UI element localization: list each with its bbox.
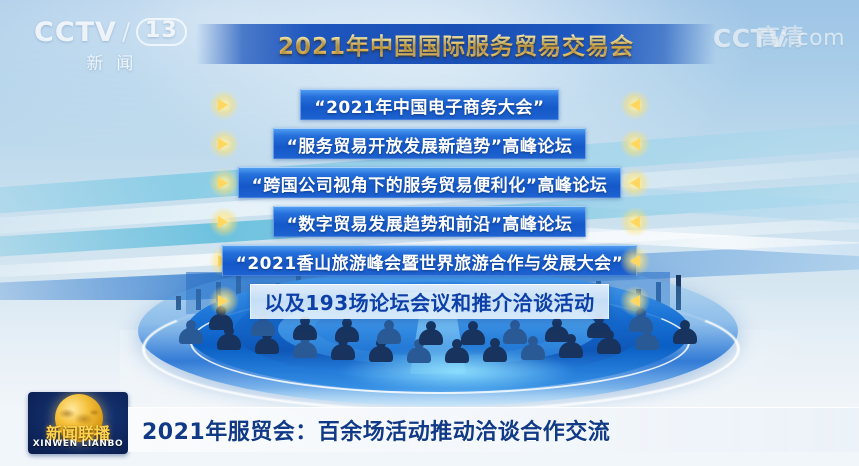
bullet-arrow-right-icon <box>627 136 643 152</box>
event-list-item-bar[interactable]: 以及193场论坛会议和推介洽谈活动 <box>250 284 608 319</box>
broadcast-screen: CCTV / 13 新闻 高清 CCTV .com 2021年中国国际服务贸易交… <box>0 0 859 466</box>
bullet-arrow-left-icon <box>216 293 232 309</box>
cctv-com-watermark: 高清 CCTV .com <box>713 24 845 53</box>
cctv13-channel-logo: CCTV / 13 新闻 <box>34 18 187 74</box>
bullet-arrow-right-icon <box>627 175 643 191</box>
audience-person-silhouette <box>502 320 528 344</box>
title-banner-text: 2021年中国国际服务贸易交易会 <box>278 27 634 61</box>
event-list-item[interactable]: “数字贸易发展趋势和前沿”高峰论坛 <box>0 203 859 240</box>
event-list-item-label: “数字贸易发展趋势和前沿”高峰论坛 <box>287 210 573 235</box>
headline-text: 2021年服贸会：百余场活动推动洽谈合作交流 <box>142 414 610 446</box>
event-list-item[interactable]: “跨国公司视角下的服务贸易便利化”高峰论坛 <box>0 164 859 201</box>
xinwen-lianbo-logo: 新闻联播 XINWEN LIANBO <box>28 392 128 454</box>
title-banner: 2021年中国国际服务贸易交易会 <box>196 24 716 64</box>
channel-sub-label: 新闻 <box>34 49 187 74</box>
headline-band: 2021年服贸会：百余场活动推动洽谈合作交流 <box>128 407 859 452</box>
event-list-item-label: 以及193场论坛会议和推介洽谈活动 <box>264 287 594 316</box>
event-list-item-bar[interactable]: “2021香山旅游峰会暨世界旅游合作与发展大会” <box>222 245 638 276</box>
bullet-arrow-left-icon <box>216 97 232 113</box>
bullet-arrow-left-icon <box>216 214 232 230</box>
bullet-arrow-right-icon <box>627 214 643 230</box>
event-list-item[interactable]: “2021香山旅游峰会暨世界旅游合作与发展大会” <box>0 242 859 279</box>
audience-person-silhouette <box>178 320 204 344</box>
audience-person-silhouette <box>460 321 486 345</box>
event-list-item-bar[interactable]: “2021年中国电子商务大会” <box>300 89 558 120</box>
event-list-item-label: “2021年中国电子商务大会” <box>314 93 544 118</box>
event-list-item[interactable]: “2021年中国电子商务大会” <box>0 86 859 123</box>
bullet-arrow-left-icon <box>216 175 232 191</box>
event-list-item-label: “服务贸易开放发展新趋势”高峰论坛 <box>287 132 573 157</box>
bullet-arrow-right-icon <box>627 97 643 113</box>
audience-person-silhouette <box>376 320 402 344</box>
channel-number: 13 <box>136 18 187 46</box>
event-list-item-label: “跨国公司视角下的服务贸易便利化”高峰论坛 <box>252 171 608 196</box>
event-list-item-bar[interactable]: “服务贸易开放发展新趋势”高峰论坛 <box>273 128 587 159</box>
event-list-item-label: “2021香山旅游峰会暨世界旅游合作与发展大会” <box>236 249 624 274</box>
event-list-item-bar[interactable]: “数字贸易发展趋势和前沿”高峰论坛 <box>273 206 587 237</box>
audience-person-silhouette <box>418 321 444 345</box>
bullet-arrow-left-icon <box>216 136 232 152</box>
hd-badge: 高清 <box>757 18 805 52</box>
event-list-item-bar[interactable]: “跨国公司视角下的服务贸易便利化”高峰论坛 <box>238 167 622 198</box>
bullet-arrow-right-icon <box>627 253 643 269</box>
cctv-wordmark: CCTV <box>34 19 117 46</box>
logo-slash: / <box>122 20 131 44</box>
event-list: “2021年中国电子商务大会”“服务贸易开放发展新趋势”高峰论坛“跨国公司视角下… <box>0 86 859 323</box>
audience-person-silhouette <box>672 320 698 344</box>
bullet-arrow-right-icon <box>627 293 643 309</box>
event-list-item[interactable]: 以及193场论坛会议和推介洽谈活动 <box>0 281 859 321</box>
program-name-en: XINWEN LIANBO <box>28 439 128 449</box>
event-list-item[interactable]: “服务贸易开放发展新趋势”高峰论坛 <box>0 125 859 162</box>
